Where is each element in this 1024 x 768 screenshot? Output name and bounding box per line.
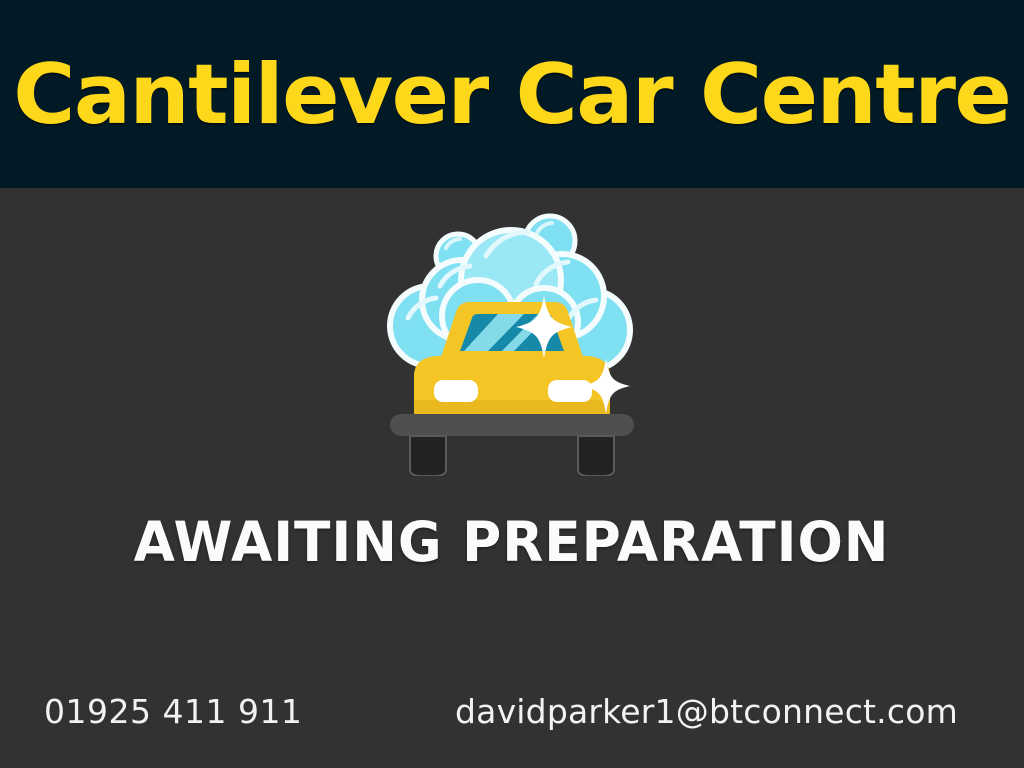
contact-bar: 01925 411 911 davidparker1@btconnect.com — [0, 676, 1024, 746]
headlight-left — [434, 380, 478, 402]
status-row: AWAITING PREPARATION — [0, 496, 1024, 588]
headlight-right — [548, 380, 592, 402]
car-wash-icon — [378, 208, 646, 476]
vehicle-status-placard: Cantilever Car Centre — [0, 0, 1024, 768]
icon-stage — [0, 196, 1024, 488]
dealership-header-band: Cantilever Car Centre — [0, 0, 1024, 188]
status-badge: AWAITING PREPARATION — [134, 515, 890, 570]
dealership-brand-title: Cantilever Car Centre — [13, 53, 1010, 136]
contact-phone[interactable]: 01925 411 911 — [44, 695, 302, 728]
car-bumper — [390, 414, 634, 436]
contact-email[interactable]: davidparker1@btconnect.com — [455, 695, 958, 728]
car-wheels — [410, 436, 614, 476]
